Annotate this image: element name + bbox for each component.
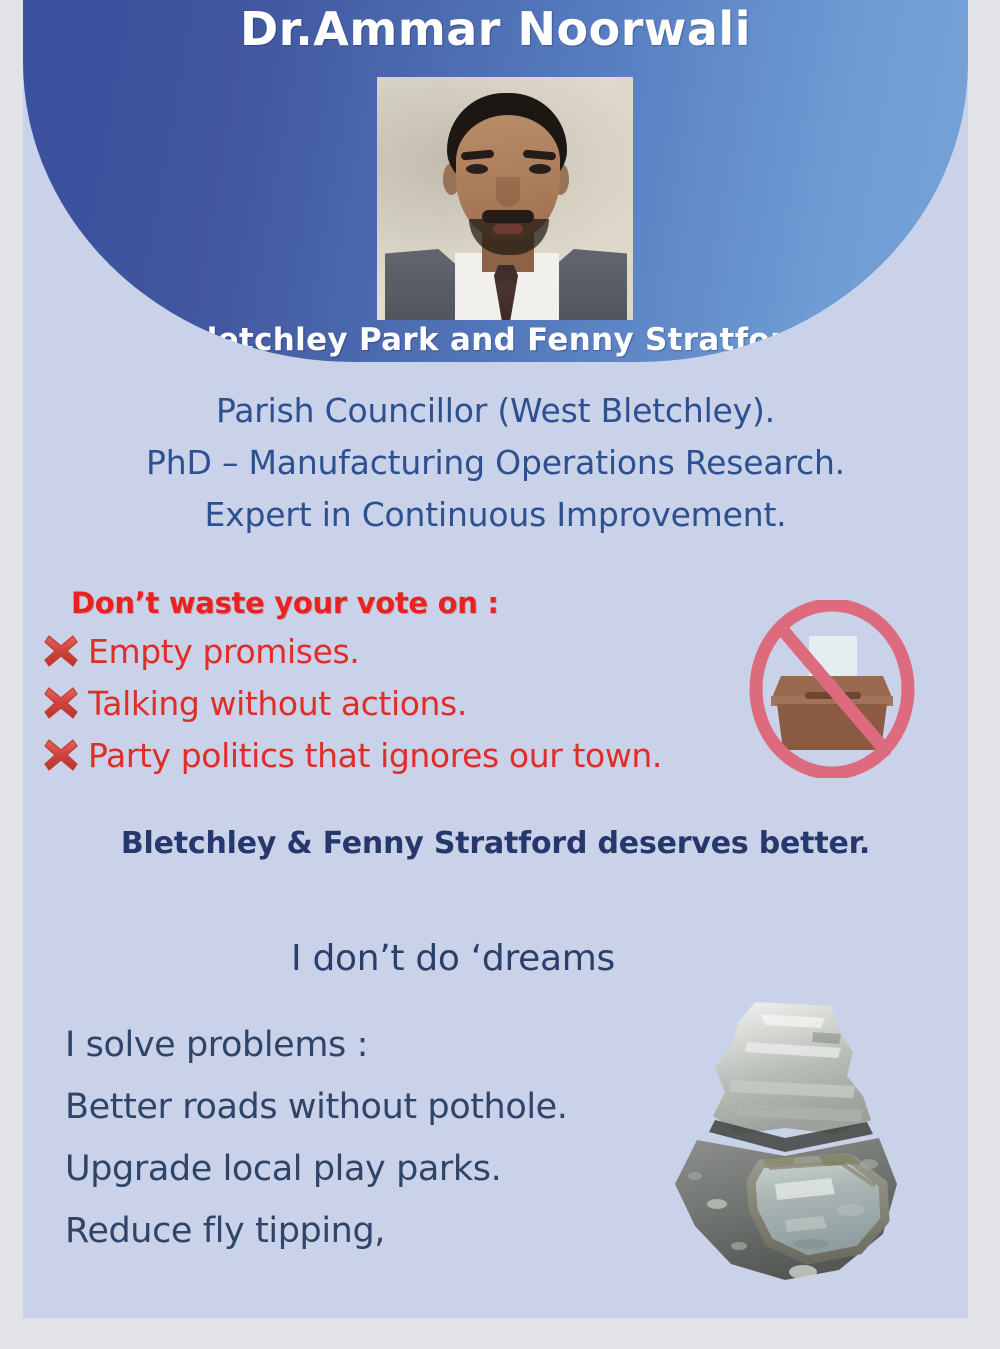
pledge-intro: I solve problems : — [65, 1025, 665, 1065]
slogan-deserves-better: Bletchley & Fenny Stratford deserves bet… — [23, 826, 968, 861]
pledge-item: Reduce fly tipping, — [65, 1211, 665, 1251]
warning-list-item: Party politics that ignores our town. — [41, 735, 662, 775]
portrait-eye-right — [529, 164, 551, 174]
pledge-list: I solve problems : Better roads without … — [65, 1025, 665, 1273]
portrait-nose — [496, 177, 520, 207]
pledge-item: Upgrade local play parks. — [65, 1149, 665, 1189]
pledge-headline: I don’t do ‘dreams — [23, 938, 883, 979]
cross-mark-icon — [41, 735, 81, 775]
warning-item-label: Party politics that ignores our town. — [88, 736, 662, 775]
avatar — [377, 77, 633, 320]
warning-item-label: Talking without actions. — [88, 684, 467, 723]
credential-line: Parish Councillor (West Bletchley). — [23, 385, 968, 437]
no-ballot-box-icon — [743, 600, 921, 778]
credential-line: Expert in Continuous Improvement. — [23, 489, 968, 541]
credentials-block: Parish Councillor (West Bletchley). PhD … — [23, 385, 968, 541]
pothole-photo — [635, 988, 935, 1293]
pledge-item: Better roads without pothole. — [65, 1087, 665, 1127]
warning-item-label: Empty promises. — [88, 632, 359, 671]
portrait-eye-left — [466, 164, 488, 174]
portrait-mouth — [493, 224, 523, 234]
ward-name: Bletchley Park and Fenny Stratford — [23, 322, 968, 358]
warning-list-item: Empty promises. — [41, 631, 359, 671]
poster-body: Dr.Ammar Noorwali — [23, 0, 968, 1318]
campaign-poster: Dr.Ammar Noorwali — [0, 0, 1000, 1349]
header-banner: Dr.Ammar Noorwali — [23, 0, 968, 362]
warning-heading: Don’t waste your vote on : — [71, 586, 499, 620]
cross-mark-icon — [41, 683, 81, 723]
warning-list-item: Talking without actions. — [41, 683, 467, 723]
cross-mark-icon — [41, 631, 81, 671]
credential-line: PhD – Manufacturing Operations Research. — [23, 437, 968, 489]
page-title: Dr.Ammar Noorwali — [23, 4, 968, 55]
portrait-moustache — [482, 210, 534, 223]
